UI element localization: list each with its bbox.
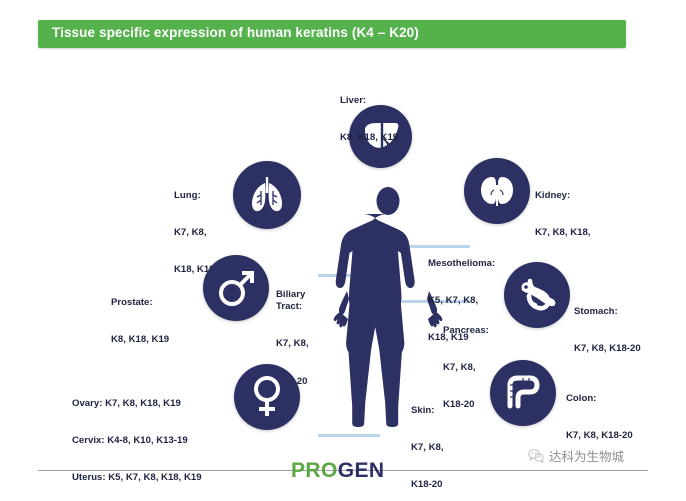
lungs-icon[interactable] — [233, 161, 301, 229]
colon-glyph — [503, 373, 543, 413]
stomach-icon[interactable] — [505, 263, 569, 327]
page-title: Tissue specific expression of human kera… — [52, 25, 419, 40]
female-symbol-glyph — [250, 376, 284, 418]
watermark-text: 达科为生物城 — [549, 446, 624, 465]
male-symbol-icon[interactable] — [203, 255, 269, 321]
label-uterus: Uterus: K5, K7, K8, K18, K19 — [72, 472, 206, 484]
female-symbol-icon[interactable] — [234, 364, 300, 430]
label-liver: Liver: K8, K18, K19 — [340, 70, 398, 169]
stomach-glyph — [517, 278, 557, 312]
label-cervix: Cervix: K4-8, K10, K13-19 — [72, 435, 206, 447]
label-stomach: Stomach: K7, K8, K18-20 — [574, 281, 641, 380]
label-ovary: Ovary: K7, K8, K18, K19 — [72, 398, 206, 410]
male-symbol-glyph — [216, 268, 256, 308]
slide-title-bar: Tissue specific expression of human kera… — [38, 20, 626, 48]
watermark: 达科为生物城 — [528, 446, 624, 465]
progen-logo: PROGEN — [291, 459, 384, 483]
lungs-glyph — [246, 175, 288, 215]
kidney-glyph — [476, 173, 518, 209]
logo-pre: PR — [291, 459, 321, 482]
logo-post: GEN — [338, 459, 385, 482]
label-female-tissues: Ovary: K7, K8, K18, K19 Cervix: K4-8, K1… — [72, 373, 206, 501]
slide-canvas: Tissue specific expression of human kera… — [0, 0, 686, 501]
logo-ring: O — [321, 459, 338, 482]
label-prostate: Prostate: K8, K18, K19 — [111, 272, 169, 371]
label-pancreas: Pancreas: K7, K8, K18-20 — [443, 300, 489, 436]
colon-icon[interactable] — [490, 360, 556, 426]
kidney-icon[interactable] — [464, 158, 530, 224]
wechat-icon — [528, 449, 544, 463]
label-skin: Skin: K7, K8, K18-20 — [411, 380, 444, 501]
